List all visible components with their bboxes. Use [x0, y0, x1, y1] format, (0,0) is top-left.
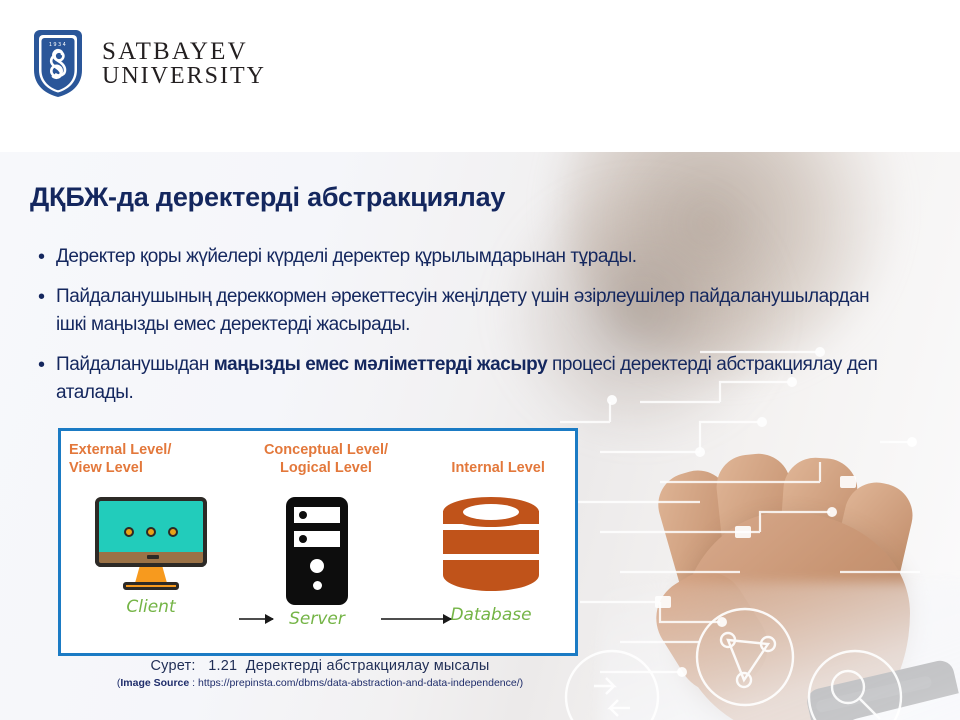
arrow-server-to-database	[381, 618, 451, 620]
bullet-marker-icon: •	[30, 243, 56, 271]
bullet-segment: Пайдаланушыдан	[56, 354, 214, 375]
list-item: • Деректер қоры жүйелері күрделі деректе…	[30, 243, 890, 271]
figure-node-server: Server	[257, 497, 377, 629]
bullet-marker-icon: •	[30, 351, 56, 379]
svg-text:1934: 1934	[49, 42, 67, 48]
bullet-text-2: Пайдаланушының дереккормен әрекеттесуін …	[56, 283, 890, 339]
bullet-segment: Деректер қоры жүйелері күрделі деректер …	[56, 246, 637, 267]
bullet-text-1: Деректер қоры жүйелері күрделі деректер …	[56, 243, 637, 271]
level-label-conceptual: Conceptual Level/ Logical Level	[239, 441, 414, 477]
university-logo: 1934 SATBAYEV UNIVERSITY	[28, 26, 266, 100]
figure-diagram: External Level/ View Level Conceptual Le…	[58, 428, 578, 656]
logo-name-line-2: UNIVERSITY	[102, 64, 266, 88]
caption-label: Сурет:	[150, 658, 195, 674]
page-title: ДҚБЖ-да деректерді абстракциялау	[30, 182, 505, 213]
node-caption-database: Database	[411, 605, 571, 625]
level-label-external: External Level/ View Level	[61, 441, 239, 477]
level-label-internal: Internal Level	[413, 441, 583, 477]
logo-name-line-1: SATBAYEV	[102, 39, 266, 64]
figure-caption: Сурет: 1.21 Деректерді абстракциялау мыс…	[50, 658, 590, 689]
figure-node-database: Database	[411, 497, 571, 625]
caption-text: Деректерді абстракциялау мысалы	[246, 658, 490, 674]
list-item: • Пайдаланушыдан маңызды емес мәліметтер…	[30, 351, 890, 407]
bullet-text-3: Пайдаланушыдан маңызды емес мәліметтерді…	[56, 351, 890, 407]
bullet-segment: Пайдаланушының дереккормен әрекеттесуін …	[56, 286, 869, 335]
figure-nodes: Client Server Database	[61, 497, 575, 625]
caption-number: 1.21	[208, 658, 237, 674]
list-item: • Пайдаланушының дереккормен әрекеттесуі…	[30, 283, 890, 339]
source-label: Image Source	[120, 677, 189, 689]
node-caption-server: Server	[257, 609, 377, 629]
figure-node-client: Client	[71, 497, 231, 617]
database-cylinder-icon	[443, 497, 539, 601]
figure-source: (Image Source : https://prepinsta.com/db…	[50, 677, 590, 689]
bullet-marker-icon: •	[30, 283, 56, 311]
server-tower-icon	[286, 497, 348, 605]
figure-caption-main: Сурет: 1.21 Деректерді абстракциялау мыс…	[50, 658, 590, 674]
source-url[interactable]: https://prepinsta.com/dbms/data-abstract…	[198, 677, 520, 689]
bullet-segment-bold: маңызды емес мәліметтерді жасыру	[214, 354, 547, 375]
monitor-icon	[95, 497, 207, 593]
magnifier-icon	[809, 651, 901, 720]
bullet-list: • Деректер қоры жүйелері күрделі деректе…	[30, 243, 890, 419]
figure-level-labels: External Level/ View Level Conceptual Le…	[61, 441, 575, 477]
share-nodes-icon	[697, 609, 793, 705]
node-caption-client: Client	[71, 597, 231, 617]
arrow-client-to-server	[239, 618, 273, 620]
satbayev-shield-icon: 1934	[28, 26, 88, 100]
